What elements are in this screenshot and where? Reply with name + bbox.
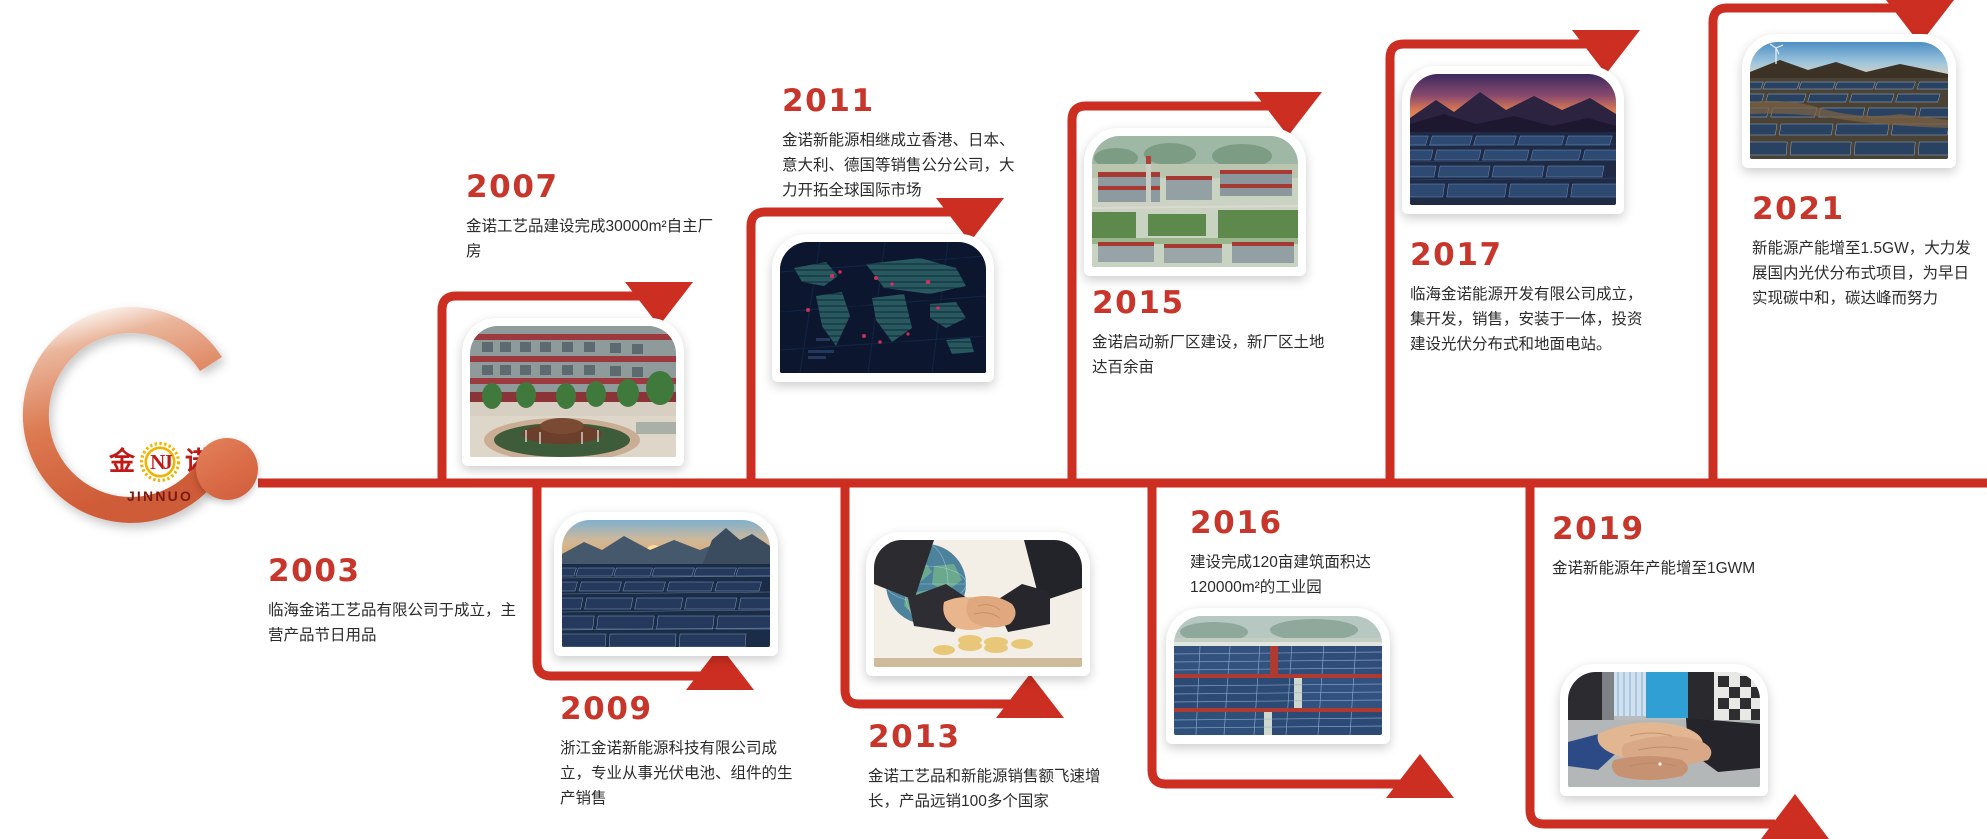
milestone-year: 2009	[560, 694, 806, 725]
logo-seal-letters: NJ	[150, 452, 170, 473]
milestone-description: 金诺新能源年产能增至1GWM	[1552, 556, 1832, 581]
milestone-description: 金诺工艺品建设完成30000m²自主厂房	[466, 214, 714, 264]
milestone-2013: 2013 金诺工艺品和新能源销售额飞速增长，产品远销100多个国家	[868, 722, 1120, 814]
milestone-2017: 2017 临海金诺能源开发有限公司成立，集开发，销售，安装于一体，投资建设光伏分…	[1410, 240, 1650, 357]
arrow-up-2016	[1386, 754, 1454, 798]
logo-accent-dot	[196, 438, 258, 500]
milestone-description: 建设完成120亩建筑面积达120000m²的工业园	[1190, 550, 1438, 600]
milestone-year: 2019	[1552, 514, 1832, 545]
solar-farm-sunset-photo	[554, 512, 778, 656]
hillside-solar-array-photo	[1742, 34, 1956, 168]
milestone-2016: 2016 建设完成120亩建筑面积达120000m²的工业园	[1190, 508, 1438, 600]
milestone-description: 临海金诺工艺品有限公司于成立，主营产品节日用品	[268, 598, 524, 648]
arrow-up-2019	[1761, 794, 1829, 839]
milestone-year: 2003	[268, 556, 524, 587]
milestone-year: 2015	[1092, 288, 1326, 319]
milestone-description: 临海金诺能源开发有限公司成立，集开发，销售，安装于一体，投资建设光伏分布式和地面…	[1410, 282, 1650, 357]
milestone-2019: 2019 金诺新能源年产能增至1GWM	[1552, 514, 1832, 581]
timeline-infographic: 金 NJ 诺 JINNUO	[0, 0, 1987, 839]
milestone-2011: 2011 金诺新能源相继成立香港、日本、意大利、德国等销售公分公司，大力开拓全球…	[782, 86, 1020, 203]
milestone-description: 浙江金诺新能源科技有限公司成立，专业从事光伏电池、组件的生产销售	[560, 736, 806, 811]
world-map-network-photo	[772, 234, 994, 382]
mountain-solar-plant-photo	[1402, 66, 1624, 214]
logo-seal-emblem: NJ	[140, 442, 180, 482]
milestone-2009: 2009 浙江金诺新能源科技有限公司成立，专业从事光伏电池、组件的生产销售	[560, 694, 806, 811]
rooftop-solar-factory-photo	[1166, 608, 1390, 744]
milestone-description: 金诺新能源相继成立香港、日本、意大利、德国等销售公分公司，大力开拓全球国际市场	[782, 128, 1020, 203]
factory-courtyard-fountain-photo	[462, 318, 684, 466]
milestone-2015: 2015 金诺启动新厂区建设，新厂区土地达百余亩	[1092, 288, 1326, 380]
milestone-description: 新能源产能增至1.5GW，大力发展国内光伏分布式项目，为早日实现碳中和，碳达峰而…	[1752, 236, 1980, 311]
milestone-year: 2016	[1190, 508, 1438, 539]
milestone-2021: 2021 新能源产能增至1.5GW，大力发展国内光伏分布式项目，为早日实现碳中和…	[1752, 194, 1980, 311]
industrial-park-aerial-photo	[1084, 128, 1306, 276]
milestone-2007: 2007 金诺工艺品建设完成30000m²自主厂房	[466, 172, 714, 264]
milestone-description: 金诺工艺品和新能源销售额飞速增长，产品远销100多个国家	[868, 764, 1120, 814]
logo-char-jin: 金	[109, 449, 135, 475]
company-logo: 金 NJ 诺 JINNUO	[22, 290, 272, 540]
arrow-up-2013	[996, 674, 1064, 718]
milestone-year: 2007	[466, 172, 714, 203]
milestone-description: 金诺启动新厂区建设，新厂区土地达百余亩	[1092, 330, 1326, 380]
milestone-year: 2021	[1752, 194, 1980, 225]
handshake-business-photo	[866, 532, 1090, 676]
milestone-year: 2011	[782, 86, 1020, 117]
milestone-year: 2013	[868, 722, 1120, 753]
team-hands-together-photo	[1560, 664, 1768, 796]
milestone-year: 2017	[1410, 240, 1650, 271]
milestone-2003: 2003 临海金诺工艺品有限公司于成立，主营产品节日用品	[268, 556, 524, 648]
